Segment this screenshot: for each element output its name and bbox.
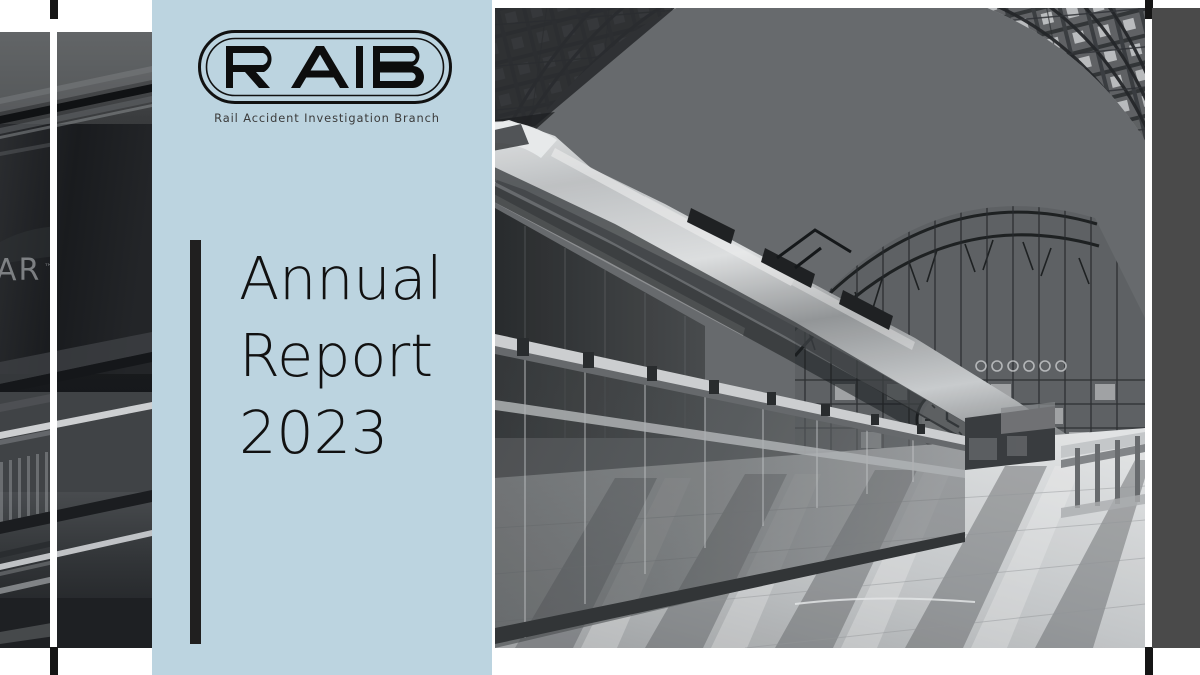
svg-text:™: ™ (44, 263, 50, 273)
report-cover-page: AR ™ (0, 0, 1200, 675)
raib-logo-icon (196, 28, 454, 106)
cover-title-block: Annual Report 2023 (190, 240, 442, 644)
cover-blue-panel: Rail Accident Investigation Branch Annua… (152, 0, 492, 675)
crop-mark-bottom-right (1145, 647, 1153, 675)
crop-mark-top-left (50, 0, 58, 19)
left-train-photo-continued (57, 32, 152, 648)
svg-text:AR: AR (0, 253, 41, 288)
cover-main-photograph-right-sliver (1152, 8, 1200, 648)
raib-logo-wordmark: Rail Accident Investigation Branch (196, 111, 458, 125)
st-pancras-station-photo (495, 8, 1145, 648)
crop-mark-bottom-left (50, 647, 58, 675)
title-accent-rule (190, 240, 201, 644)
left-train-photo: AR ™ (0, 32, 50, 648)
page-title: Annual Report 2023 (239, 240, 442, 471)
left-photo-strip-outer: AR ™ (0, 32, 50, 648)
raib-logo: Rail Accident Investigation Branch (196, 28, 458, 125)
title-line-3: 2023 (239, 394, 442, 471)
left-photo-strip-inner (57, 32, 152, 648)
title-line-2: Report (239, 317, 442, 394)
title-line-1: Annual (239, 240, 442, 317)
cover-main-photograph (495, 8, 1145, 648)
